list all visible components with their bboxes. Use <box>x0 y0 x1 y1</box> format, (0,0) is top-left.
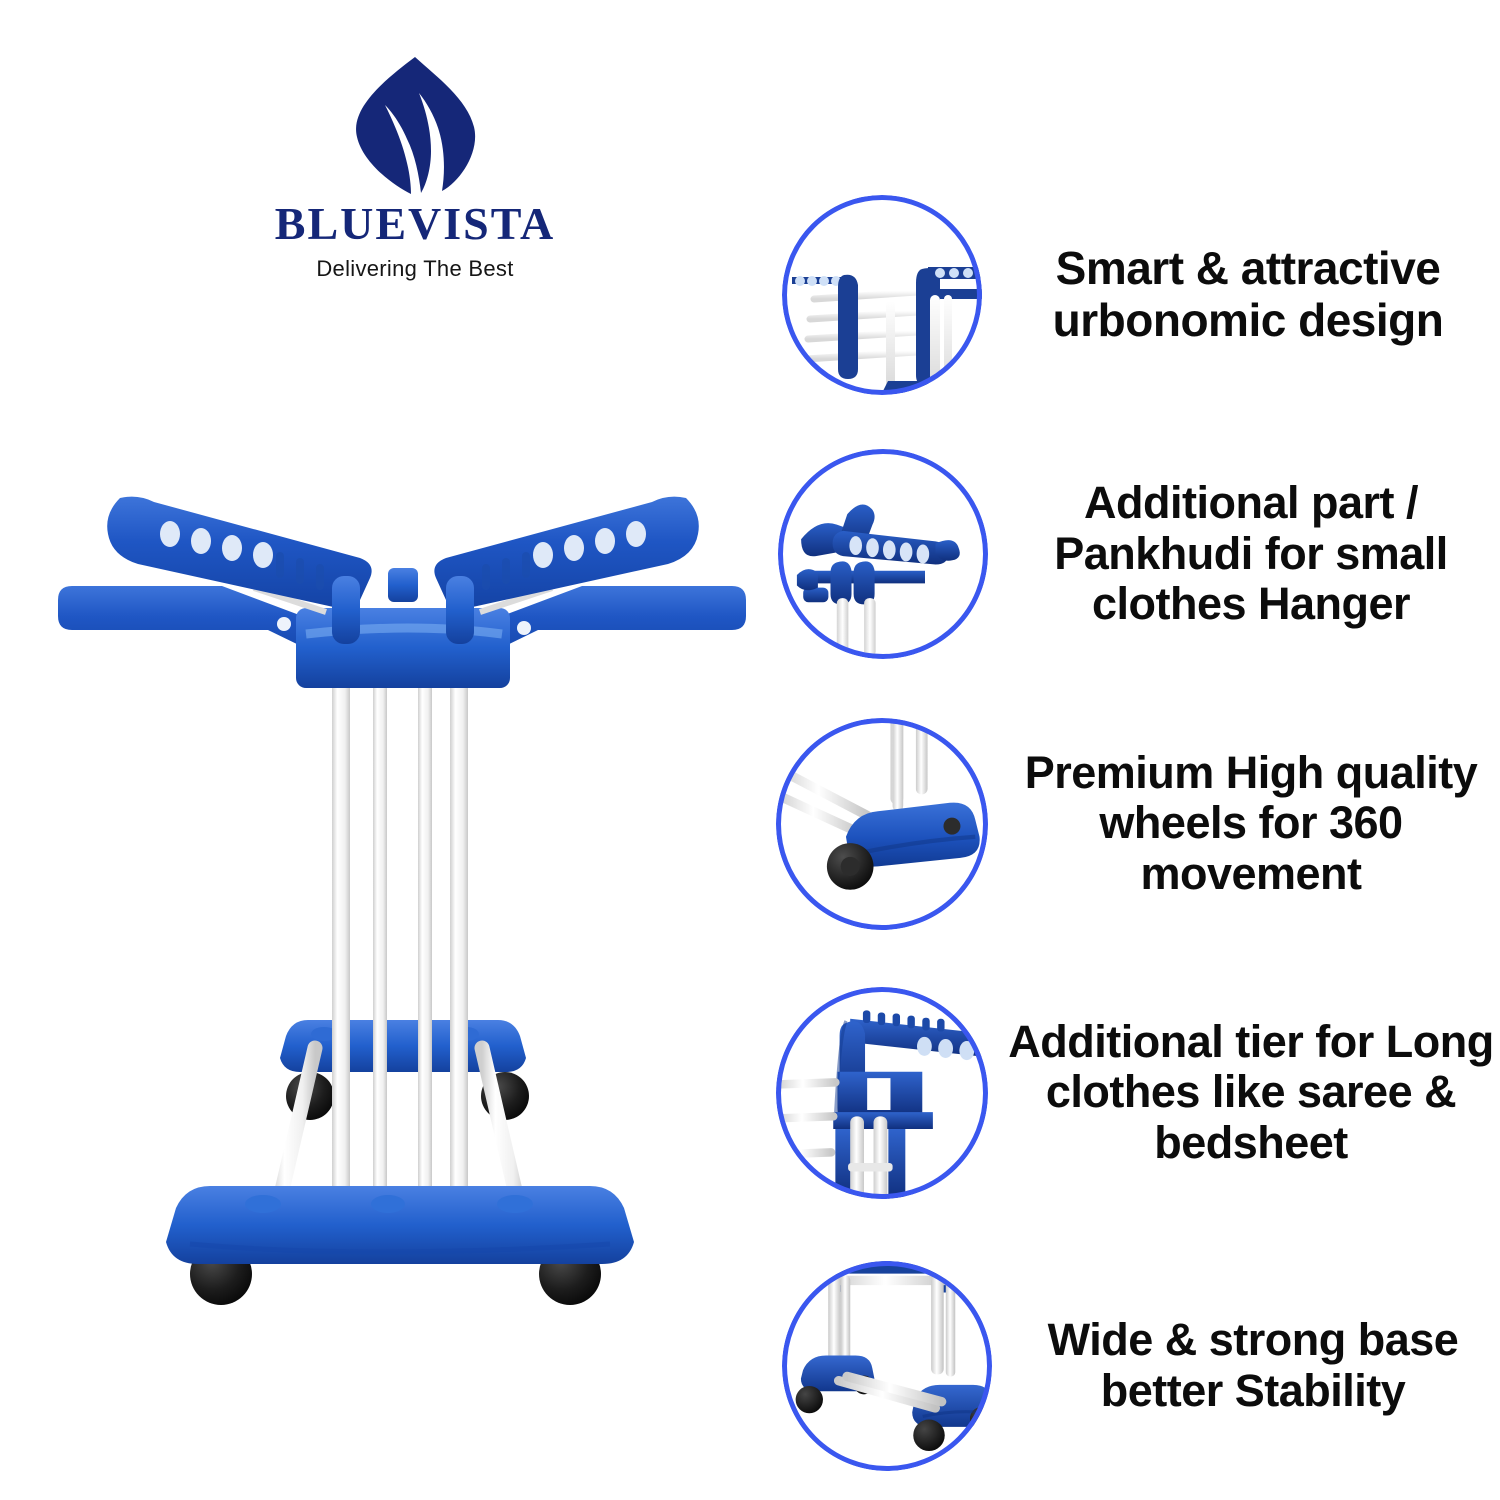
feature-image-pankhudi-hanger <box>778 449 988 659</box>
center-knob <box>388 568 418 602</box>
feature-label-wheels-360: Premium High quality wheels for 360 move… <box>988 748 1500 899</box>
feature-image-wide-base <box>782 1261 992 1471</box>
feature-image-smart-design <box>782 195 982 395</box>
feature-label-smart-design: Smart & attractive urbonomic design <box>982 243 1500 346</box>
feature-label-pankhudi-hanger: Additional part / Pankhudi for small clo… <box>988 478 1500 629</box>
hero-product-image <box>58 448 748 1328</box>
feature-label-wide-base: Wide & strong base better Stability <box>992 1315 1500 1416</box>
rack-top-rails-closeup-photo <box>782 195 982 395</box>
feature-row-pankhudi-hanger: Additional part / Pankhudi for small clo… <box>760 448 1500 660</box>
feature-row-smart-design: Smart & attractive urbonomic design <box>760 190 1500 400</box>
feature-image-additional-tier <box>776 987 988 1199</box>
feature-row-wheels-360: Premium High quality wheels for 360 move… <box>760 716 1500 931</box>
cloth-drying-stand-illustration <box>58 448 748 1328</box>
brand-tagline: Delivering The Best <box>316 256 513 282</box>
feature-list: Smart & attractive urbonomic design <box>760 170 1500 1500</box>
feature-image-wheels-360 <box>776 718 988 930</box>
feature-row-wide-base: Wide & strong base better Stability <box>760 1258 1500 1473</box>
center-poles-group <box>332 640 468 1252</box>
additional-tier-closeup-photo <box>776 987 988 1199</box>
pankhudi-hanger-arm-closeup-photo <box>778 449 988 659</box>
brand-block: BLUEVISTA Delivering The Best <box>180 55 650 295</box>
feature-label-additional-tier: Additional tier for Long clothes like sa… <box>988 1017 1500 1168</box>
feature-row-additional-tier: Additional tier for Long clothes like sa… <box>760 985 1500 1200</box>
floor-base-group <box>166 1186 634 1305</box>
product-infographic-page: BLUEVISTA Delivering The Best <box>0 0 1500 1500</box>
flame-leaf-logo-icon <box>349 55 481 195</box>
caster-wheels-base-closeup-photo <box>776 718 988 930</box>
wide-base-closeup-photo <box>782 1261 992 1471</box>
brand-name: BLUEVISTA <box>275 201 555 247</box>
